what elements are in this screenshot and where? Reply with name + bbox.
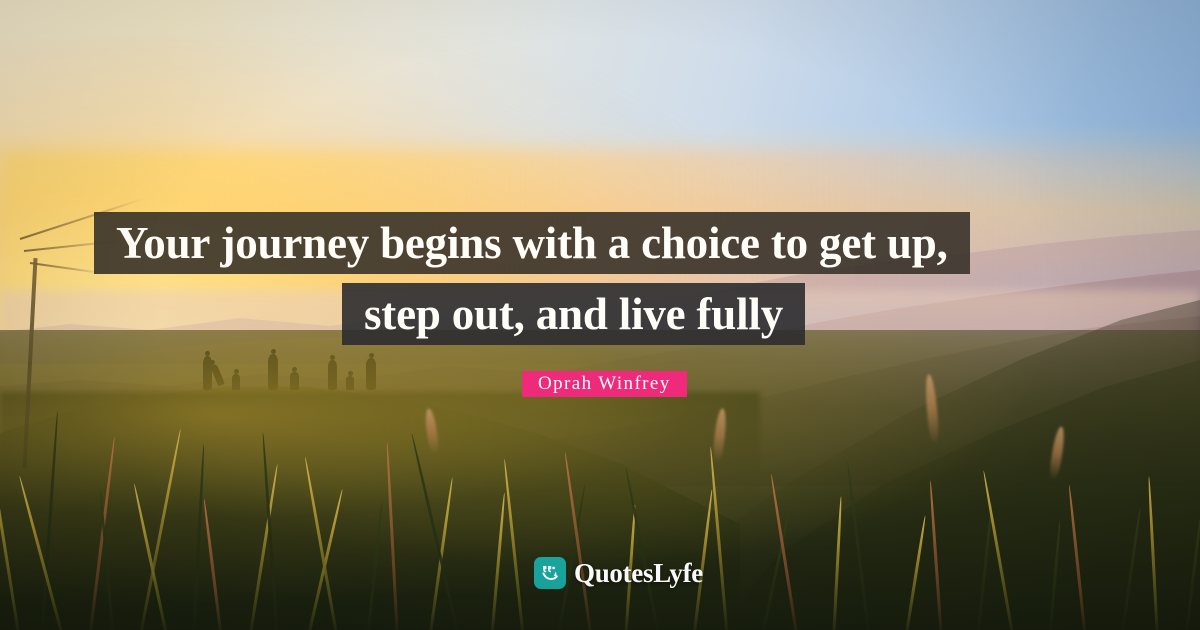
reed-plume <box>712 408 728 463</box>
quoteslyfe-logo[interactable]: QuotesLyfe <box>534 557 703 589</box>
reed-plume <box>424 408 440 455</box>
quote-line-2: step out, and live fully <box>342 283 805 345</box>
reed-plume <box>1048 426 1066 481</box>
quote-smiley-icon <box>534 557 566 589</box>
author-badge[interactable]: Oprah Winfrey <box>522 371 687 397</box>
quote-card: Your journey begins with a choice to get… <box>0 0 1200 630</box>
reed-plume <box>924 374 940 445</box>
quote-line-1: Your journey begins with a choice to get… <box>94 212 970 274</box>
logo-wordmark: QuotesLyfe <box>574 560 703 587</box>
